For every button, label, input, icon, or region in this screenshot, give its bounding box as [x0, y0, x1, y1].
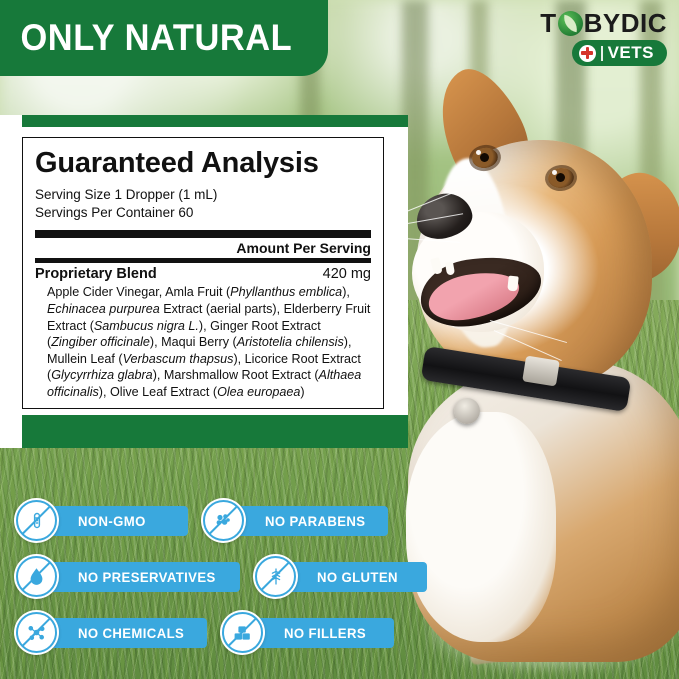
dog-tooth — [507, 276, 519, 292]
panel-top-green-bar — [22, 115, 408, 127]
medical-cross-icon — [579, 45, 596, 62]
test-tube-icon — [14, 498, 59, 543]
badge-label: NO PARABENS — [265, 513, 365, 529]
serving-size: Serving Size 1 Dropper (1 mL) — [35, 186, 371, 204]
wheat-icon — [253, 554, 298, 599]
divider-thick — [35, 230, 371, 238]
badge-no-fillers: NO FILLERS — [220, 610, 394, 655]
only-natural-banner: ONLY NATURAL — [0, 0, 328, 76]
feature-badges: NON-GMO NO PARABENS — [14, 498, 474, 666]
proprietary-blend-label: Proprietary Blend — [35, 266, 157, 282]
badge-row: NO PRESERVATIVES N — [14, 554, 474, 599]
proprietary-blend-row: Proprietary Blend 420 mg — [35, 263, 371, 283]
dog-eye-glint — [476, 150, 481, 155]
dog-eye-glint — [552, 170, 557, 175]
badge-pill: NO PARABENS — [223, 506, 388, 536]
vets-label: VETS — [608, 43, 654, 63]
brand-name-part1: T — [540, 10, 556, 36]
collar-buckle — [522, 356, 560, 387]
badge-no-gluten: NO GLUTEN — [253, 554, 427, 599]
badge-non-gmo: NON-GMO — [14, 498, 188, 543]
servings-per-container: Servings Per Container 60 — [35, 204, 371, 222]
badge-pill: NO CHEMICALS — [36, 618, 207, 648]
product-label-image: ONLY NATURAL T BYDIC VETS Guaranteed Ana… — [0, 0, 679, 679]
badge-label: NO CHEMICALS — [78, 625, 184, 641]
badge-row: NON-GMO NO PARABENS — [14, 498, 474, 543]
badge-pill: NO GLUTEN — [275, 562, 427, 592]
badge-row: NO CHEMICALS NO FILLERS — [14, 610, 474, 655]
cubes-icon — [220, 610, 265, 655]
facts-box: Guaranteed Analysis Serving Size 1 Dropp… — [22, 137, 384, 409]
brand-logo: T BYDIC VETS — [495, 10, 667, 67]
amount-per-serving-header: Amount Per Serving — [35, 238, 371, 257]
facts-title: Guaranteed Analysis — [35, 148, 371, 178]
brand-name: T BYDIC — [495, 10, 667, 36]
dog-pupil-right — [556, 173, 565, 182]
proprietary-blend-amount: 420 mg — [323, 266, 371, 282]
banner-title: ONLY NATURAL — [0, 17, 292, 59]
badge-no-preservatives: NO PRESERVATIVES — [14, 554, 240, 599]
badge-label: NO FILLERS — [284, 625, 366, 641]
panel-bottom-green-bar — [22, 415, 408, 448]
ingredient-list: Apple Cider Vinegar, Amla Fruit (Phyllan… — [35, 283, 371, 400]
leaf-icon — [558, 11, 583, 36]
dog-pupil-left — [480, 153, 489, 162]
badge-label: NO GLUTEN — [317, 569, 398, 585]
molecule-cluster-icon — [201, 498, 246, 543]
water-drop-icon — [14, 554, 59, 599]
badge-label: NO PRESERVATIVES — [78, 569, 216, 585]
guaranteed-analysis-panel: Guaranteed Analysis Serving Size 1 Dropp… — [0, 115, 408, 448]
divider — [601, 46, 603, 61]
badge-pill: NO PRESERVATIVES — [36, 562, 240, 592]
badge-no-parabens: NO PARABENS — [201, 498, 388, 543]
vets-badge: VETS — [572, 40, 667, 66]
badge-label: NON-GMO — [78, 513, 146, 529]
chemical-molecule-icon — [14, 610, 59, 655]
brand-name-part2: BYDIC — [584, 10, 667, 36]
badge-no-chemicals: NO CHEMICALS — [14, 610, 207, 655]
